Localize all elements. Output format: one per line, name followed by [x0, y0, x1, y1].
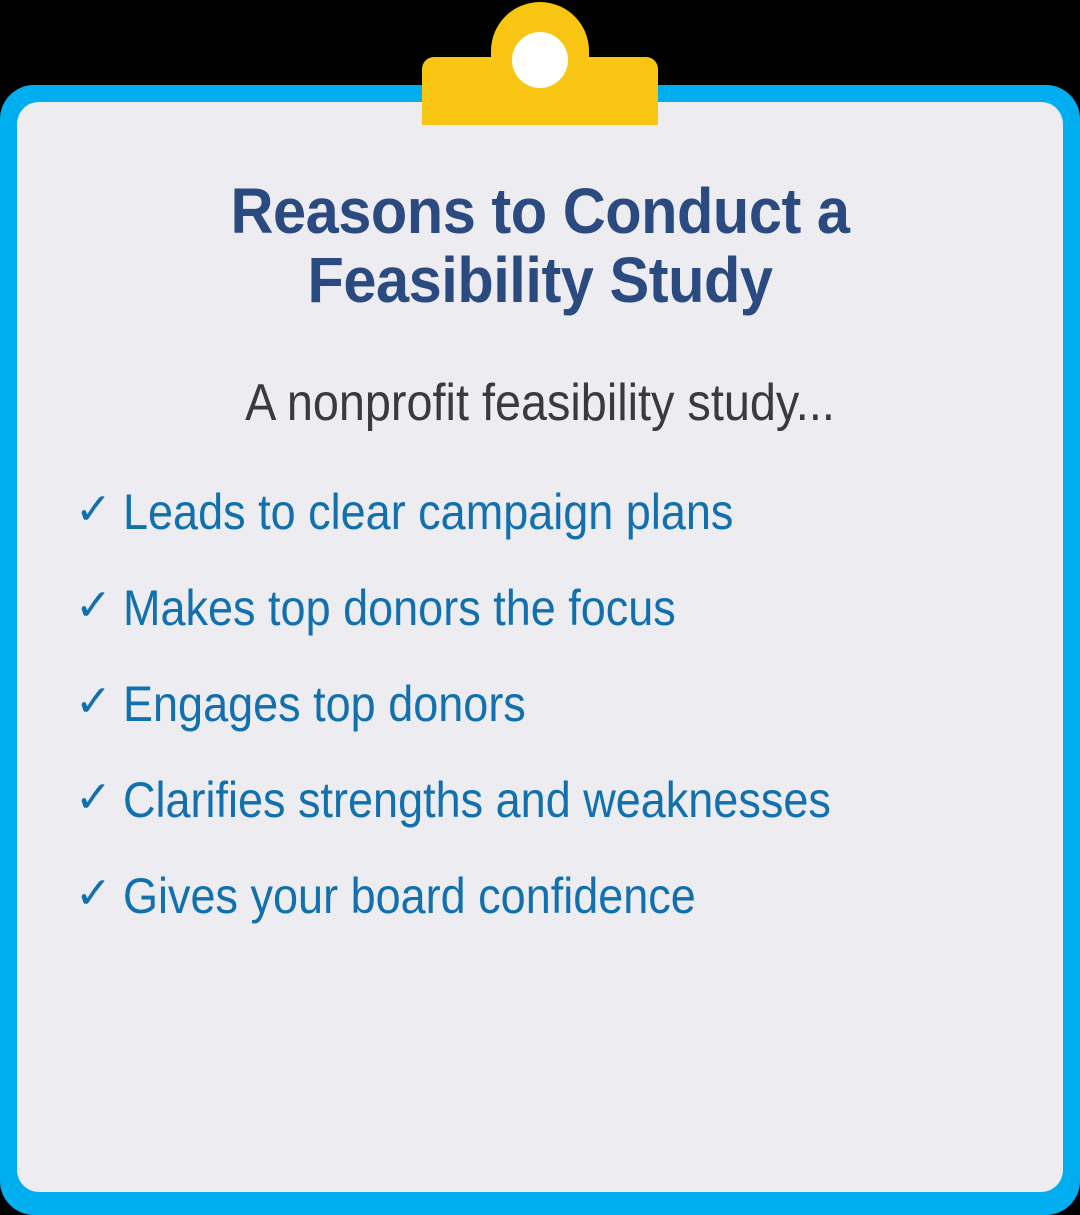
list-item: ✓ Leads to clear campaign plans [75, 484, 1023, 540]
check-icon: ✓ [75, 484, 123, 537]
list-item-label: Gives your board confidence [123, 868, 933, 924]
poster-content: Reasons to Conduct a Feasibility Study A… [17, 102, 1063, 924]
list-item-label: Engages top donors [123, 676, 933, 732]
check-icon: ✓ [75, 676, 123, 729]
list-item-label: Leads to clear campaign plans [123, 484, 933, 540]
check-icon: ✓ [75, 772, 123, 825]
check-icon: ✓ [75, 580, 123, 633]
list-item: ✓ Engages top donors [75, 676, 1023, 732]
benefits-checklist: ✓ Leads to clear campaign plans ✓ Makes … [57, 484, 1023, 924]
clip-hole-icon [512, 32, 568, 88]
list-item-label: Makes top donors the focus [123, 580, 933, 636]
check-icon: ✓ [75, 868, 123, 921]
subtitle: A nonprofit feasibility study... [105, 375, 974, 432]
list-item: ✓ Gives your board confidence [75, 868, 1023, 924]
clipboard-frame: Reasons to Conduct a Feasibility Study A… [0, 85, 1080, 1215]
clipboard-paper: Reasons to Conduct a Feasibility Study A… [17, 102, 1063, 1192]
list-item-label: Clarifies strengths and weaknesses [123, 772, 933, 828]
page-title: Reasons to Conduct a Feasibility Study [91, 177, 989, 315]
list-item: ✓ Makes top donors the focus [75, 580, 1023, 636]
list-item: ✓ Clarifies strengths and weaknesses [75, 772, 1023, 828]
